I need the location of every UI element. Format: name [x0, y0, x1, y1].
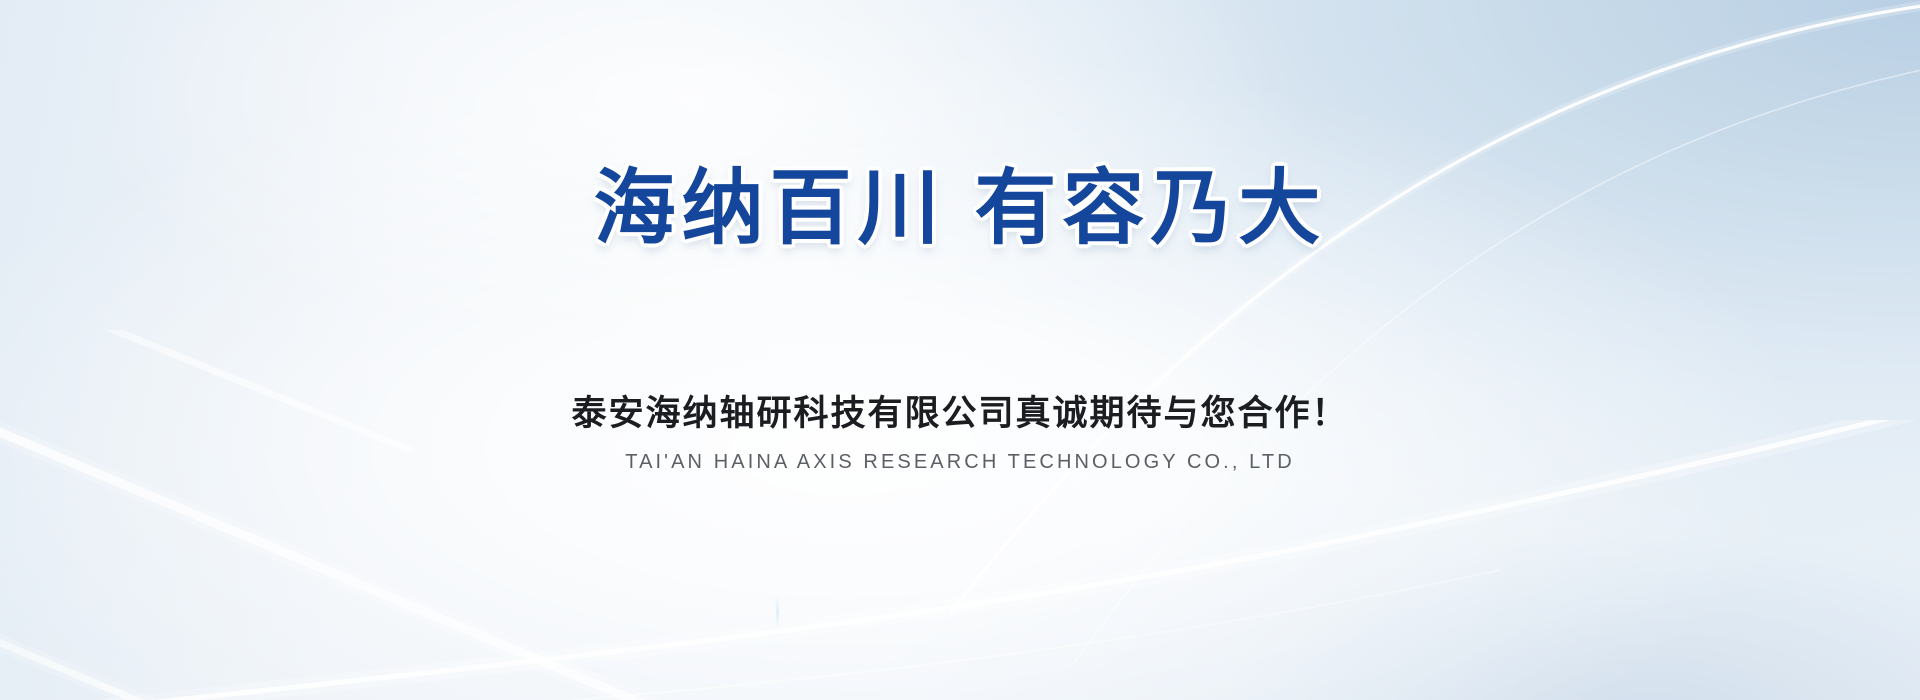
banner-content: 海纳百川 有容乃大 泰安海纳轴研科技有限公司真诚期待与您合作！ TAI'AN H…	[0, 0, 1920, 700]
banner-headline: 海纳百川 有容乃大	[0, 168, 1920, 250]
hero-banner: 海纳百川 有容乃大 泰安海纳轴研科技有限公司真诚期待与您合作！ TAI'AN H…	[0, 0, 1920, 700]
banner-subtitle-english: TAI'AN HAINA AXIS RESEARCH TECHNOLOGY CO…	[0, 452, 1920, 472]
banner-subtitle-chinese: 泰安海纳轴研科技有限公司真诚期待与您合作！	[0, 396, 1920, 431]
